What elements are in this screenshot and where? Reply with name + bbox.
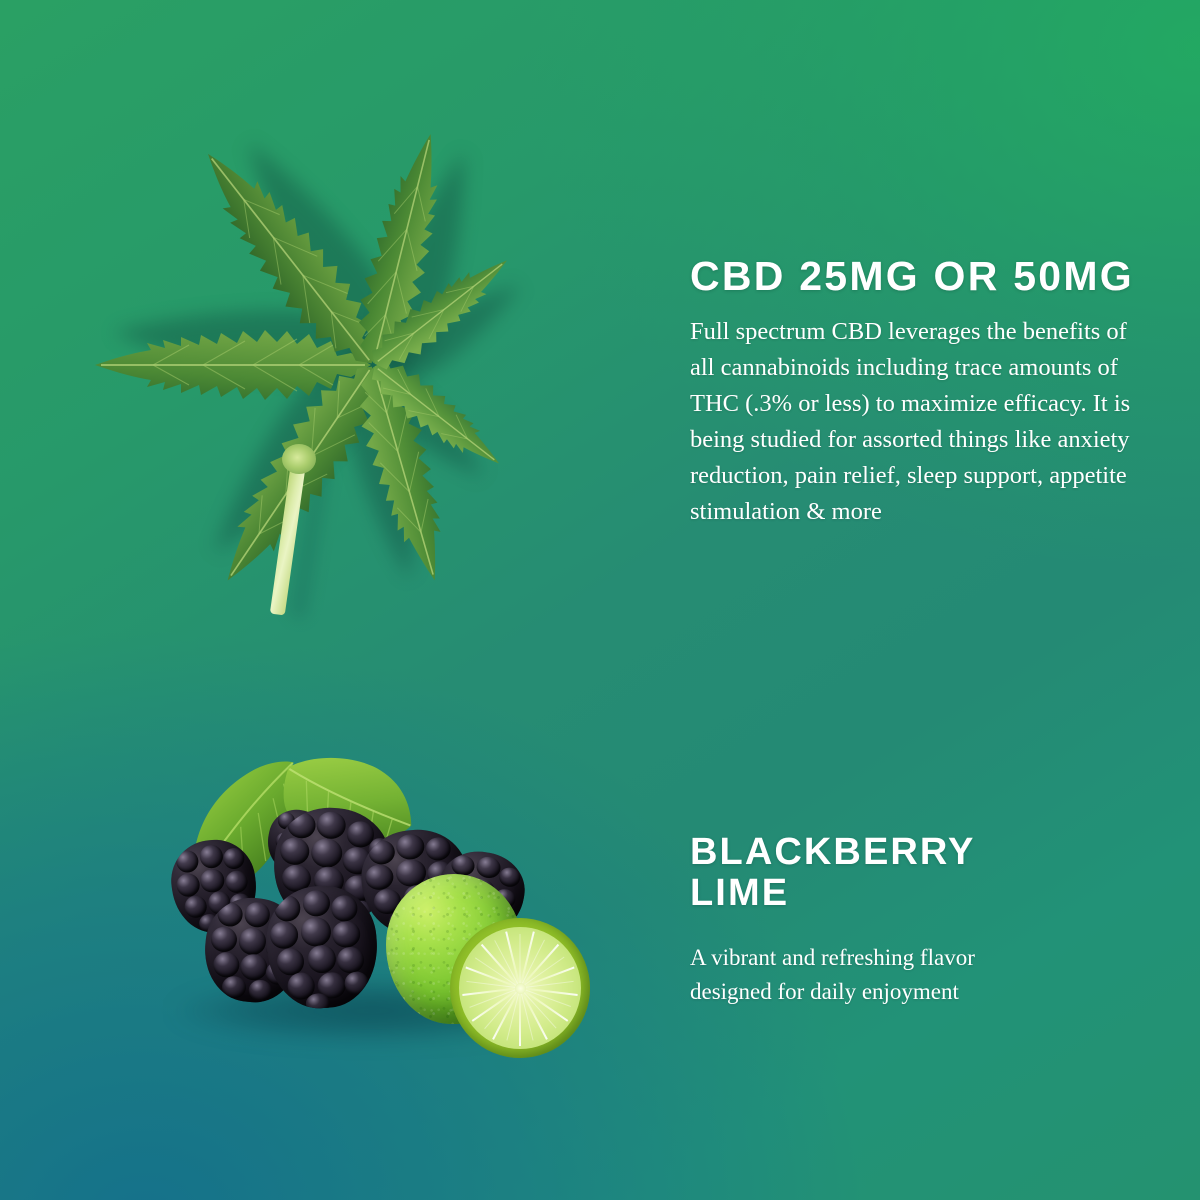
flavor-heading: BLACKBERRY LIME: [690, 832, 1090, 914]
lime-half: [450, 918, 590, 1058]
flavor-description: A vibrant and refreshing flavor designed…: [690, 941, 1050, 1009]
leaf-center-node: [282, 444, 316, 474]
blackberry-lime-photo: [150, 748, 600, 1068]
lime-flesh: [459, 927, 581, 1049]
cbd-feature-block: CBD 25MG OR 50MG Full spectrum CBD lever…: [690, 254, 1160, 530]
cbd-description: Full spectrum CBD leverages the benefits…: [690, 314, 1152, 530]
product-feature-poster: CBD 25MG OR 50MG Full spectrum CBD lever…: [0, 0, 1200, 1200]
flavor-feature-block: BLACKBERRY LIME A vibrant and refreshing…: [690, 832, 1090, 1009]
hemp-leaf-illustration: [78, 78, 668, 628]
flavor-heading-line2: LIME: [690, 872, 789, 914]
cbd-heading: CBD 25MG OR 50MG: [690, 254, 1160, 298]
lime-core: [515, 983, 526, 994]
fruit-illustration: [150, 748, 600, 1068]
flavor-heading-line1: BLACKBERRY: [690, 831, 976, 873]
hemp-leaf-photo: [78, 78, 668, 628]
